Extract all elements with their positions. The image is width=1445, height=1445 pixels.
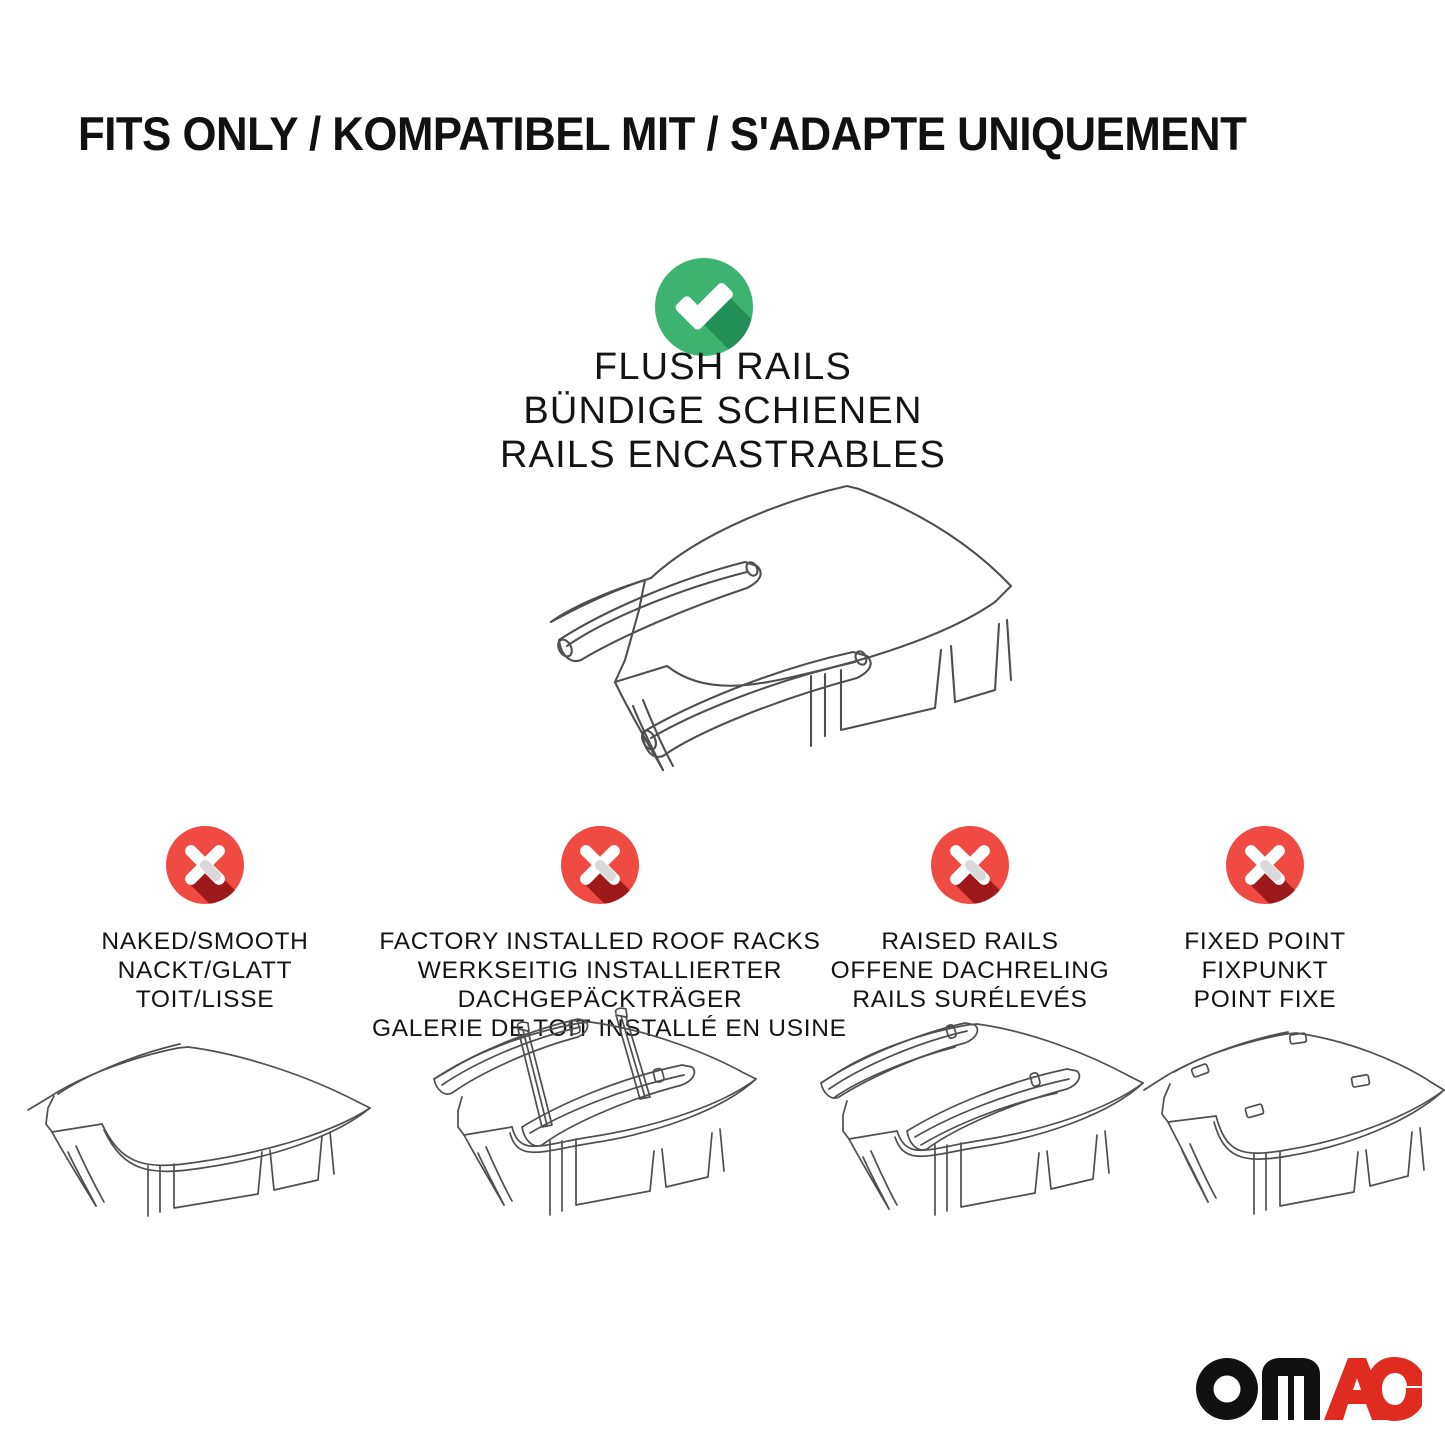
cross-circle-icon (561, 826, 639, 904)
label-line-en: FACTORY INSTALLED ROOF RACKS (372, 927, 828, 956)
car-roof-with-flush-rails-illustration (455, 470, 1025, 790)
compatible-label: FLUSH RAILS BÜNDIGE SCHIENEN RAILS ENCAS… (223, 345, 1223, 477)
car-roof-raised-rails-illustration (795, 1005, 1175, 1220)
check-circle-icon (655, 258, 753, 356)
car-roof-factory-installed-roof-racks-illustration (400, 1005, 790, 1220)
incompatible-label: NAKED/SMOOTH NACKT/GLATT TOIT/LISSE (20, 927, 390, 1014)
cross-circle-icon (1226, 826, 1304, 904)
car-roof-fixed-point-illustration (1130, 1022, 1445, 1220)
cross-circle-icon (166, 826, 244, 904)
car-roof-naked-smooth-illustration (18, 1020, 398, 1220)
label-line-de: FIXPUNKT (1128, 956, 1402, 985)
label-line-en: FIXED POINT (1128, 927, 1402, 956)
compatible-label-de: BÜNDIGE SCHIENEN (223, 389, 1223, 433)
label-line-fr: POINT FIXE (1128, 985, 1402, 1014)
omac-logo (1196, 1356, 1422, 1422)
label-line-de-1: WERKSEITIG INSTALLIERTER (372, 956, 828, 985)
page-title: FITS ONLY / KOMPATIBEL MIT / S'ADAPTE UN… (78, 108, 1287, 160)
incompatible-label: RAISED RAILS OFFENE DACHRELING RAILS SUR… (812, 927, 1128, 1014)
label-line-de: NACKT/GLATT (20, 956, 390, 985)
label-line-fr: TOIT/LISSE (20, 985, 390, 1014)
incompatible-label: FIXED POINT FIXPUNKT POINT FIXE (1128, 927, 1402, 1014)
cross-circle-icon (931, 826, 1009, 904)
label-line-en: RAISED RAILS (812, 927, 1128, 956)
label-line-de: OFFENE DACHRELING (812, 956, 1128, 985)
compatible-label-en: FLUSH RAILS (223, 345, 1223, 389)
fitment-chart: FITS ONLY / KOMPATIBEL MIT / S'ADAPTE UN… (0, 0, 1445, 1445)
label-line-en: NAKED/SMOOTH (20, 927, 390, 956)
